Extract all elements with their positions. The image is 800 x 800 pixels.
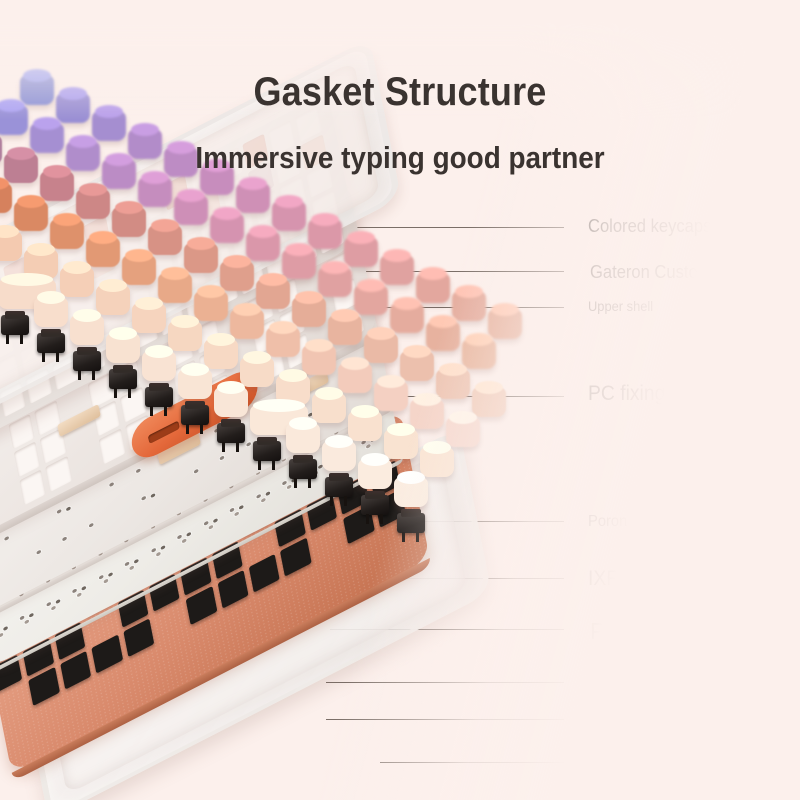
keycap bbox=[220, 261, 254, 291]
keycap bbox=[246, 231, 280, 261]
gateron-switch bbox=[397, 513, 425, 533]
keycap bbox=[328, 315, 362, 345]
keycap bbox=[390, 303, 424, 333]
keycap bbox=[230, 309, 264, 339]
keycap bbox=[178, 369, 212, 399]
keycap bbox=[0, 105, 28, 135]
plate-cell bbox=[0, 483, 20, 519]
layer-colored-keycaps bbox=[0, 85, 430, 415]
keycap bbox=[106, 333, 140, 363]
keycap bbox=[70, 315, 104, 345]
keycap bbox=[488, 309, 522, 339]
keycap bbox=[344, 237, 378, 267]
keycap bbox=[184, 243, 218, 273]
keycap bbox=[374, 381, 408, 411]
gateron-switch bbox=[217, 423, 245, 443]
plate-cell bbox=[0, 618, 19, 654]
keycap bbox=[174, 195, 208, 225]
keycap bbox=[0, 231, 22, 261]
keycap bbox=[308, 219, 342, 249]
keycap bbox=[426, 321, 460, 351]
keycap bbox=[122, 255, 156, 285]
keycap bbox=[86, 237, 120, 267]
page-title: Gasket Structure bbox=[40, 70, 760, 115]
infographic-canvas: Gasket Structure Immersive typing good p… bbox=[0, 0, 800, 800]
keycap bbox=[348, 411, 382, 441]
plate-cell bbox=[0, 566, 9, 602]
keycap bbox=[312, 393, 346, 423]
keycap bbox=[60, 267, 94, 297]
keycap bbox=[158, 273, 192, 303]
gateron-switch bbox=[325, 477, 353, 497]
plate-cell bbox=[0, 683, 28, 722]
keycap bbox=[358, 459, 392, 489]
keycap bbox=[400, 351, 434, 381]
gateron-switch bbox=[289, 459, 317, 479]
exploded-keyboard-diagram bbox=[0, 95, 630, 800]
gateron-switch bbox=[253, 441, 281, 461]
keycap bbox=[338, 363, 372, 393]
keycap bbox=[96, 285, 130, 315]
keycap bbox=[384, 429, 418, 459]
keycap bbox=[410, 399, 444, 429]
keycap bbox=[210, 213, 244, 243]
keycap bbox=[168, 321, 202, 351]
keycap bbox=[194, 291, 228, 321]
keycap bbox=[76, 189, 110, 219]
keycap bbox=[462, 339, 496, 369]
keycap bbox=[472, 387, 506, 417]
keycap bbox=[50, 219, 84, 249]
keycap bbox=[436, 369, 470, 399]
keycap bbox=[292, 297, 326, 327]
keycap bbox=[0, 135, 2, 165]
keycap bbox=[272, 201, 306, 231]
keycap bbox=[354, 285, 388, 315]
keycap bbox=[416, 273, 450, 303]
keycap bbox=[420, 447, 454, 477]
keycap bbox=[394, 477, 428, 507]
keycap bbox=[34, 297, 68, 327]
keycap bbox=[256, 279, 290, 309]
keycap bbox=[286, 423, 320, 453]
keycap bbox=[214, 387, 248, 417]
keycap bbox=[142, 351, 176, 381]
keycap bbox=[236, 183, 270, 213]
keycap bbox=[322, 441, 356, 471]
keycap bbox=[282, 249, 316, 279]
keycap bbox=[452, 291, 486, 321]
keycap bbox=[240, 357, 274, 387]
keycap bbox=[148, 225, 182, 255]
gateron-switch bbox=[361, 495, 389, 515]
page-subtitle: Immersive typing good partner bbox=[40, 140, 760, 176]
keycap bbox=[132, 303, 166, 333]
keycap bbox=[380, 255, 414, 285]
keycap bbox=[0, 183, 12, 213]
keycap bbox=[318, 267, 352, 297]
keycap bbox=[302, 345, 336, 375]
keycap bbox=[446, 417, 480, 447]
keycap bbox=[364, 333, 398, 363]
keycap bbox=[4, 153, 38, 183]
keycap bbox=[266, 327, 300, 357]
keycap bbox=[204, 339, 238, 369]
keycap bbox=[14, 201, 48, 231]
keycap bbox=[112, 207, 146, 237]
keycap bbox=[138, 177, 172, 207]
keycap bbox=[92, 111, 126, 141]
